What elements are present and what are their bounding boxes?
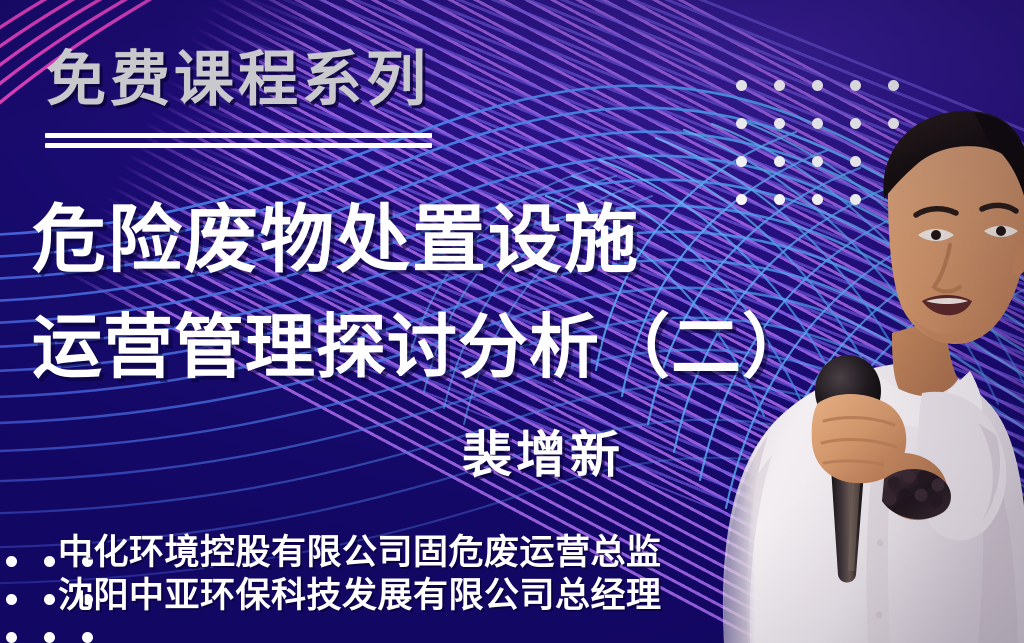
pupil-left xyxy=(931,230,941,240)
rule-line-bottom xyxy=(45,143,432,148)
decor-dot xyxy=(6,594,17,605)
poster-title-line-2: 运营管理探讨分析（二） xyxy=(32,314,813,384)
shirt-button xyxy=(877,540,884,547)
kicker-label: 免费课程系列 xyxy=(46,50,430,110)
course-poster: 免费课程系列 危险废物处置设施 运营管理探讨分析（二） 裴增新 中化环境控股有限… xyxy=(0,0,1024,643)
decor-dot xyxy=(774,80,785,91)
speaker-credential-2: 沈阳中亚环保科技发展有限公司总经理 xyxy=(58,578,662,613)
kicker-double-rule xyxy=(45,133,432,148)
decor-dot xyxy=(6,556,17,567)
decor-dot xyxy=(812,80,823,91)
decor-dot xyxy=(888,80,899,91)
speaker-credential-1: 中化环境控股有限公司固危废运营总监 xyxy=(58,535,662,570)
decor-dot xyxy=(850,80,861,91)
decor-dot xyxy=(44,632,55,643)
decor-dot xyxy=(736,80,747,91)
decor-dot xyxy=(44,594,55,605)
pupil-right xyxy=(996,226,1006,236)
decor-dot xyxy=(82,632,93,643)
shirt-button xyxy=(876,612,883,619)
decor-dot xyxy=(44,556,55,567)
speaker-name: 裴增新 xyxy=(462,430,624,480)
rule-line-top xyxy=(45,133,432,138)
poster-title-line-1: 危险废物处置设施 xyxy=(32,204,640,278)
decor-dot xyxy=(6,632,17,643)
